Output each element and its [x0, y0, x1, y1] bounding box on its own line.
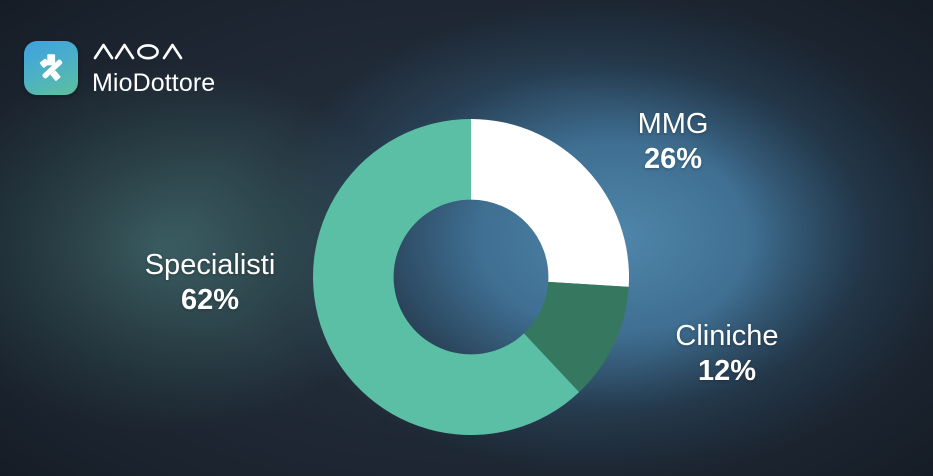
slice-label-specialisti-name: Specialisti — [102, 249, 318, 281]
slice-label-mmg-value: 26% — [586, 142, 760, 177]
brand-wordmark: MioDottore — [92, 40, 215, 96]
slice-label-specialisti: Specialisti 62% — [102, 249, 318, 318]
slide-canvas: MioDottore MMG 26% Cliniche 12% Speciali… — [0, 0, 933, 476]
mio-dottore-app-icon — [24, 41, 78, 95]
slice-label-mmg: MMG 26% — [586, 108, 760, 177]
slice-label-specialisti-value: 62% — [102, 283, 318, 318]
slice-label-cliniche: Cliniche 12% — [634, 320, 820, 389]
slice-label-mmg-name: MMG — [586, 108, 760, 140]
docplanner-wordmark-icon — [92, 40, 215, 68]
slice-label-cliniche-name: Cliniche — [634, 320, 820, 352]
donut-chart — [313, 119, 629, 435]
brand-logo: MioDottore — [24, 40, 215, 96]
slice-label-cliniche-value: 12% — [634, 354, 820, 389]
brand-name: MioDottore — [92, 70, 215, 96]
donut-chart-svg — [313, 119, 629, 435]
